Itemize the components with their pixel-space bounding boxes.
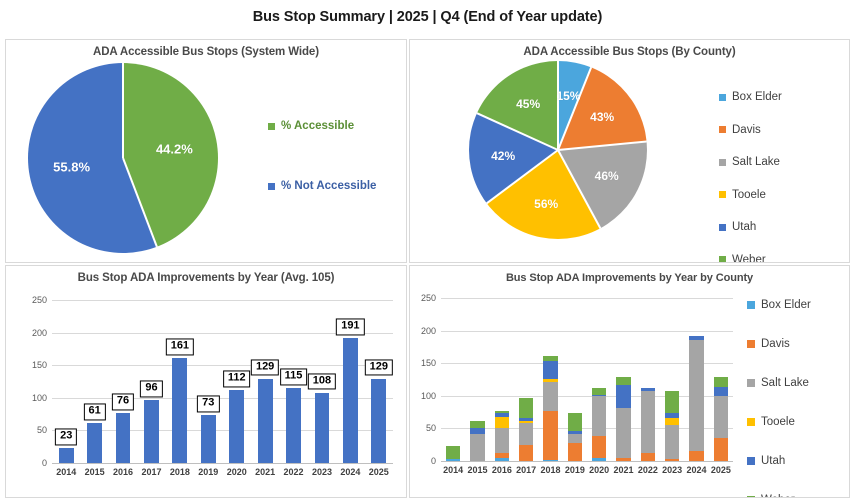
pie-slice-label: 43%: [590, 110, 614, 124]
legend-item[interactable]: Salt Lake: [747, 377, 811, 389]
stacked-bar-column[interactable]: [519, 398, 533, 461]
stacked-bar-segment[interactable]: [592, 396, 606, 436]
legend-swatch-icon: [719, 126, 726, 133]
legend-item-label: Davis: [732, 124, 761, 136]
x-axis-tick-label: 2024: [340, 467, 360, 477]
panel-bar-improvements-by-year: Bus Stop ADA Improvements by Year (Avg. …: [5, 265, 407, 498]
pie-slice-label: 45%: [516, 97, 540, 111]
y-axis-tick-label: 200: [421, 326, 436, 336]
stacked-bar-segment[interactable]: [689, 340, 703, 451]
legend-item-label: % Accessible: [281, 120, 354, 132]
stacked-bar-column[interactable]: [495, 411, 509, 461]
legend-item-label: Weber: [761, 494, 795, 498]
x-axis-tick-label: 2023: [662, 465, 682, 475]
gridline: [52, 300, 393, 301]
legend-swatch-icon: [747, 418, 755, 426]
bar-year-title: Bus Stop ADA Improvements by Year (Avg. …: [6, 266, 406, 284]
stacked-bar-segment[interactable]: [470, 428, 484, 434]
legend-swatch-icon: [268, 123, 275, 130]
stacked-bar-segment[interactable]: [568, 443, 582, 461]
legend-item-label: Davis: [761, 338, 790, 350]
axis-baseline: [52, 463, 393, 464]
stacked-bar-segment[interactable]: [714, 396, 728, 438]
legend-item-label: Box Elder: [761, 299, 811, 311]
gridline: [52, 398, 393, 399]
stacked-bar-segment[interactable]: [543, 361, 557, 379]
legend-item-label: Utah: [761, 455, 785, 467]
pie-county-chart-area: 15%43%46%56%42%45% Box ElderDavisSalt La…: [410, 58, 849, 258]
x-axis-tick-label: 2016: [492, 465, 512, 475]
bar-county-plot-area: 0501001502002502014201520162017201820192…: [441, 298, 733, 461]
gridline: [52, 430, 393, 431]
stacked-bar-segment[interactable]: [568, 431, 582, 434]
x-axis-tick-label: 2017: [516, 465, 536, 475]
bar-data-label: 115: [280, 368, 308, 385]
stacked-bar-segment[interactable]: [689, 336, 703, 340]
x-axis-tick-label: 2018: [540, 465, 560, 475]
legend-item-label: Salt Lake: [732, 156, 780, 168]
legend-item[interactable]: Davis: [719, 124, 782, 136]
stacked-bar-segment[interactable]: [568, 413, 582, 431]
y-axis-tick-label: 50: [426, 423, 436, 433]
pie-county-graphic: 15%43%46%56%42%45%: [469, 61, 647, 239]
x-axis-tick-label: 2025: [369, 467, 389, 477]
gridline: [441, 331, 733, 332]
stacked-bar-segment[interactable]: [543, 411, 557, 460]
stacked-bar-column[interactable]: [689, 336, 703, 461]
stacked-bar-segment[interactable]: [568, 434, 582, 443]
stacked-bar-segment[interactable]: [616, 408, 630, 458]
pie-slice-divider: [557, 61, 559, 150]
y-axis-tick-label: 200: [32, 328, 47, 338]
x-axis-tick-label: 2015: [467, 465, 487, 475]
legend-swatch-icon: [268, 183, 275, 190]
stacked-bar-segment[interactable]: [519, 423, 533, 445]
stacked-bar-segment[interactable]: [543, 382, 557, 411]
stacked-bar-segment[interactable]: [495, 458, 509, 461]
x-axis-tick-label: 2022: [284, 467, 304, 477]
legend-swatch-icon: [719, 191, 726, 198]
stacked-bar-column[interactable]: [592, 388, 606, 461]
legend-item-label: Tooele: [732, 189, 766, 201]
legend-swatch-icon: [747, 496, 755, 498]
stacked-bar-segment[interactable]: [543, 379, 557, 382]
legend-item[interactable]: Box Elder: [747, 299, 811, 311]
legend-item[interactable]: % Accessible: [268, 120, 376, 132]
bar-column[interactable]: [172, 358, 187, 463]
y-axis-tick-label: 0: [431, 456, 436, 466]
dashboard: Bus Stop Summary | 2025 | Q4 (End of Yea…: [0, 0, 855, 503]
stacked-bar-segment[interactable]: [689, 451, 703, 461]
y-axis-tick-label: 150: [421, 358, 436, 368]
dashboard-grid: ADA Accessible Bus Stops (System Wide) 4…: [4, 38, 851, 499]
bar-column[interactable]: [201, 415, 216, 463]
bar-data-label: 73: [197, 396, 219, 413]
bar-data-label: 23: [55, 428, 77, 445]
stacked-bar-column[interactable]: [616, 377, 630, 461]
x-axis-tick-label: 2024: [686, 465, 706, 475]
legend-item[interactable]: Davis: [747, 338, 811, 350]
stacked-bar-segment[interactable]: [616, 377, 630, 385]
legend-item-label: Weber: [732, 254, 766, 264]
stacked-bar-segment[interactable]: [665, 425, 679, 459]
stacked-bar-segment[interactable]: [641, 388, 655, 391]
bar-data-label: 61: [84, 404, 106, 421]
pie-county-legend: Box ElderDavisSalt LakeTooeleUtahWeber: [719, 91, 782, 263]
legend-item[interactable]: Salt Lake: [719, 156, 782, 168]
bar-column[interactable]: [59, 448, 74, 463]
stacked-bar-segment[interactable]: [616, 458, 630, 461]
gridline: [52, 365, 393, 366]
panel-pie-by-county: ADA Accessible Bus Stops (By County) 15%…: [409, 39, 850, 263]
x-axis-tick-label: 2022: [638, 465, 658, 475]
x-axis-tick-label: 2014: [443, 465, 463, 475]
stacked-bar-segment[interactable]: [641, 391, 655, 453]
stacked-bar-segment[interactable]: [446, 446, 460, 459]
legend-swatch-icon: [719, 256, 726, 263]
pie-slice-label: 55.8%: [53, 160, 90, 175]
bar-column[interactable]: [229, 390, 244, 463]
stacked-bar-segment[interactable]: [641, 453, 655, 461]
bar-column[interactable]: [343, 338, 358, 463]
stacked-bar-segment[interactable]: [714, 438, 728, 461]
x-axis-tick-label: 2023: [312, 467, 332, 477]
stacked-bar-segment[interactable]: [543, 460, 557, 461]
stacked-bar-segment[interactable]: [470, 434, 484, 461]
pie-slice-label: 44.2%: [156, 141, 193, 156]
stacked-bar-segment[interactable]: [714, 377, 728, 387]
legend-item-label: Box Elder: [732, 91, 782, 103]
legend-item[interactable]: Tooele: [719, 189, 782, 201]
stacked-bar-segment[interactable]: [470, 421, 484, 428]
bar-column[interactable]: [144, 400, 159, 463]
x-axis-tick-label: 2016: [113, 467, 133, 477]
legend-item[interactable]: Weber: [719, 254, 782, 264]
stacked-bar-column[interactable]: [714, 377, 728, 461]
legend-item-label: % Not Accessible: [281, 180, 376, 192]
x-axis-tick-label: 2021: [613, 465, 633, 475]
x-axis-tick-label: 2020: [589, 465, 609, 475]
bar-data-label: 129: [251, 359, 279, 376]
stacked-bar-segment[interactable]: [665, 459, 679, 461]
stacked-bar-segment[interactable]: [519, 445, 533, 461]
bar-data-label: 161: [166, 338, 194, 355]
legend-item-label: Utah: [732, 221, 756, 233]
stacked-bar-segment[interactable]: [495, 453, 509, 458]
bar-column[interactable]: [258, 379, 273, 463]
legend-item[interactable]: Box Elder: [719, 91, 782, 103]
stacked-bar-column[interactable]: [470, 421, 484, 461]
bar-county-title: Bus Stop ADA Improvements by Year by Cou…: [410, 266, 849, 284]
pie-slice-label: 56%: [534, 197, 558, 211]
stacked-bar-segment[interactable]: [519, 398, 533, 418]
stacked-bar-segment[interactable]: [665, 418, 679, 425]
stacked-bar-column[interactable]: [665, 391, 679, 461]
x-axis-tick-label: 2019: [565, 465, 585, 475]
legend-swatch-icon: [719, 159, 726, 166]
bar-column[interactable]: [286, 388, 301, 463]
x-axis-tick-label: 2018: [170, 467, 190, 477]
legend-item[interactable]: % Not Accessible: [268, 180, 376, 192]
panel-pie-system-wide: ADA Accessible Bus Stops (System Wide) 4…: [5, 39, 407, 263]
bar-column[interactable]: [87, 423, 102, 463]
y-axis-tick-label: 100: [421, 391, 436, 401]
stacked-bar-segment[interactable]: [592, 436, 606, 458]
legend-swatch-icon: [719, 224, 726, 231]
stacked-bar-column[interactable]: [446, 446, 460, 461]
bar-column[interactable]: [371, 379, 386, 463]
stacked-bar-segment[interactable]: [714, 387, 728, 396]
y-axis-tick-label: 100: [32, 393, 47, 403]
stacked-bar-segment[interactable]: [446, 459, 460, 461]
panel-bar-improvements-by-county: Bus Stop ADA Improvements by Year by Cou…: [409, 265, 850, 498]
x-axis-tick-label: 2020: [227, 467, 247, 477]
bar-data-label: 96: [140, 381, 162, 398]
legend-item[interactable]: Utah: [747, 455, 811, 467]
y-axis-tick-label: 250: [32, 295, 47, 305]
legend-swatch-icon: [719, 94, 726, 101]
pie-county-title: ADA Accessible Bus Stops (By County): [410, 40, 849, 58]
legend-item[interactable]: Tooele: [747, 416, 811, 428]
pie-slice-label: 42%: [491, 149, 515, 163]
pie-system-title: ADA Accessible Bus Stops (System Wide): [6, 40, 406, 58]
legend-item-label: Salt Lake: [761, 377, 809, 389]
stacked-bar-segment[interactable]: [592, 395, 606, 397]
stacked-bar-column[interactable]: [543, 356, 557, 461]
stacked-bar-segment[interactable]: [543, 356, 557, 361]
bar-data-label: 112: [223, 370, 251, 387]
stacked-bar-segment[interactable]: [616, 385, 630, 408]
stacked-bar-segment[interactable]: [592, 388, 606, 395]
bar-year-plot-area: 0501001502002502320146120157620169620171…: [52, 300, 393, 463]
stacked-bar-segment[interactable]: [495, 411, 509, 413]
x-axis-tick-label: 2014: [56, 467, 76, 477]
legend-swatch-icon: [747, 457, 755, 465]
gridline: [441, 298, 733, 299]
stacked-bar-column[interactable]: [641, 388, 655, 461]
x-axis-tick-label: 2025: [711, 465, 731, 475]
pie-system-legend: % Accessible% Not Accessible: [268, 120, 376, 240]
stacked-bar-segment[interactable]: [519, 421, 533, 423]
pie-slice-label: 46%: [595, 169, 619, 183]
stacked-bar-segment[interactable]: [519, 418, 533, 421]
bar-data-label: 129: [365, 359, 393, 376]
x-axis-tick-label: 2019: [198, 467, 218, 477]
y-axis-tick-label: 0: [42, 458, 47, 468]
bar-county-legend: Box ElderDavisSalt LakeTooeleUtahWeber: [747, 299, 811, 498]
legend-item[interactable]: Utah: [719, 221, 782, 233]
axis-baseline: [441, 461, 733, 462]
x-axis-tick-label: 2015: [85, 467, 105, 477]
stacked-bar-segment[interactable]: [665, 391, 679, 414]
bar-data-label: 191: [336, 319, 364, 336]
stacked-bar-column[interactable]: [568, 413, 582, 461]
bar-column[interactable]: [116, 413, 131, 463]
y-axis-tick-label: 150: [32, 360, 47, 370]
legend-swatch-icon: [747, 379, 755, 387]
bar-column[interactable]: [315, 393, 330, 463]
legend-item-label: Tooele: [761, 416, 795, 428]
x-axis-tick-label: 2017: [141, 467, 161, 477]
page-title: Bus Stop Summary | 2025 | Q4 (End of Yea…: [0, 0, 855, 25]
bar-data-label: 108: [308, 373, 336, 390]
y-axis-tick-label: 50: [37, 425, 47, 435]
pie-system-graphic: 44.2%55.8%: [28, 63, 218, 253]
y-axis-tick-label: 250: [421, 293, 436, 303]
stacked-bar-segment[interactable]: [665, 413, 679, 418]
legend-swatch-icon: [747, 340, 755, 348]
stacked-bar-segment[interactable]: [495, 428, 509, 453]
legend-swatch-icon: [747, 301, 755, 309]
pie-slice-divider: [122, 63, 124, 158]
legend-item[interactable]: Weber: [747, 494, 811, 498]
stacked-bar-segment[interactable]: [495, 413, 509, 416]
pie-system-chart-area: 44.2%55.8% % Accessible% Not Accessible: [6, 58, 406, 258]
bar-data-label: 76: [112, 394, 134, 411]
x-axis-tick-label: 2021: [255, 467, 275, 477]
stacked-bar-segment[interactable]: [592, 458, 606, 461]
stacked-bar-segment[interactable]: [495, 417, 509, 429]
